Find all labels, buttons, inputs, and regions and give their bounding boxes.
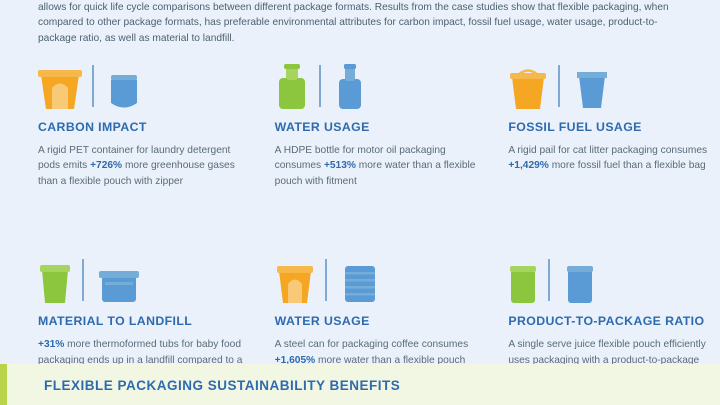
card-row-2: MATERIAL TO LANDFILL +31% more thermofor… [0,246,720,383]
icon-pair [38,246,250,304]
blue-bag-icon [575,68,609,110]
blue-bottle-icon [336,64,364,110]
benefit-card-water-usage-motor-oil: WATER USAGE A HDPE bottle for motor oil … [275,52,487,189]
card-text-before: A rigid pail for cat litter packaging co… [508,145,707,156]
icon-pair [508,52,720,110]
blue-cylinder-icon [565,262,595,304]
divider-bar [325,259,327,301]
divider-bar [558,65,560,107]
intro-paragraph: allows for quick life cycle comparisons … [38,0,686,46]
green-pouch-icon [508,262,538,304]
footer-title: FLEXIBLE PACKAGING SUSTAINABILITY BENEFI… [44,378,400,393]
divider-bar [92,65,94,107]
card-row-1: CARBON IMPACT A rigid PET container for … [0,52,720,189]
card-text-after: more fossil fuel than a flexible bag [549,160,706,171]
footer-band: FLEXIBLE PACKAGING SUSTAINABILITY BENEFI… [0,364,720,405]
card-title: MATERIAL TO LANDFILL [38,314,250,329]
icon-pair [38,52,250,110]
icon-pair [508,246,720,304]
green-tub-icon [38,260,72,304]
divider-bar [82,259,84,301]
card-highlight: +513% [324,160,356,171]
blue-can-icon [342,260,378,304]
card-highlight: +1,429% [508,160,549,171]
blue-pouch-icon [109,70,139,110]
icon-pair [275,246,487,304]
card-title: WATER USAGE [275,314,487,329]
benefit-card-water-usage-coffee: WATER USAGE A steel can for packaging co… [275,246,487,383]
benefit-card-carbon-impact: CARBON IMPACT A rigid PET container for … [38,52,250,189]
card-body: A HDPE bottle for motor oil packaging co… [275,143,487,189]
card-title: FOSSIL FUEL USAGE [508,120,720,135]
infographic-page: allows for quick life cycle comparisons … [0,0,720,405]
card-body: A rigid PET container for laundry deterg… [38,143,250,189]
card-highlight: +726% [90,160,122,171]
icon-pair [275,52,487,110]
benefit-card-fossil-fuel-usage: FOSSIL FUEL USAGE A rigid pail for cat l… [508,52,720,189]
orange-tub-icon [38,64,82,110]
divider-bar [319,65,321,107]
card-title: WATER USAGE [275,120,487,135]
benefit-card-grid: CARBON IMPACT A rigid PET container for … [0,52,720,383]
orange-canister-icon [275,260,315,304]
intro-line-1: allows for quick life cycle comparisons … [38,2,589,13]
card-title: CARBON IMPACT [38,120,250,135]
card-body: A rigid pail for cat litter packaging co… [508,143,720,174]
divider-bar [548,259,550,301]
benefit-card-product-to-package-ratio: PRODUCT-TO-PACKAGE RATIO A single serve … [508,246,720,383]
orange-pail-icon [508,64,548,110]
card-text-before: A steel can for packaging coffee consume… [275,339,469,350]
card-highlight: +31% [38,339,64,350]
green-jug-icon [275,64,309,110]
footer-accent-bar [0,364,7,405]
card-title: PRODUCT-TO-PACKAGE RATIO [508,314,720,329]
blue-tub-icon [99,264,139,304]
benefit-card-material-to-landfill: MATERIAL TO LANDFILL +31% more thermofor… [38,246,250,383]
